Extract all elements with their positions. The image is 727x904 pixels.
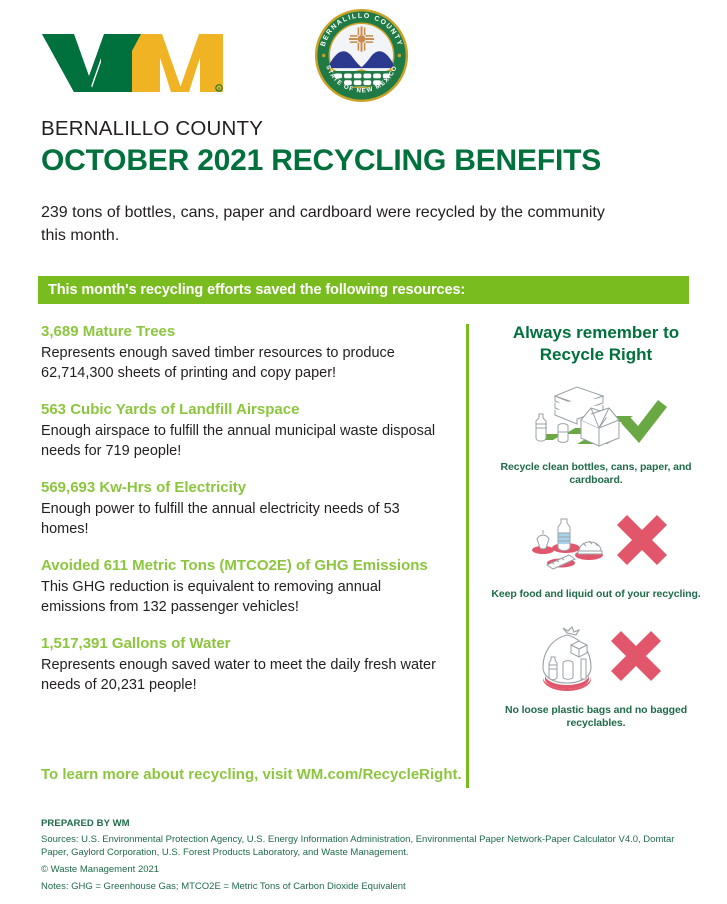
cross-mark-icon xyxy=(617,515,667,565)
recycle-accepted-items-icon xyxy=(521,380,671,454)
tip-caption: Keep food and liquid out of your recycli… xyxy=(485,588,707,601)
bernalillo-county-seal-icon: BERNALILLO COUNTY STATE OF NEW MEXICO xyxy=(313,7,410,104)
tip-caption: Recycle clean bottles, cans, paper, and … xyxy=(485,461,707,487)
benefit-item: 563 Cubic Yards of Landfill Airspace Eno… xyxy=(41,400,441,461)
benefit-headline: 563 Cubic Yards of Landfill Airspace xyxy=(41,400,441,420)
tip-illustration xyxy=(485,378,707,456)
column-divider xyxy=(466,324,469,788)
benefit-description: Represents enough saved water to meet th… xyxy=(41,656,441,695)
tip-illustration xyxy=(485,621,707,699)
benefit-headline: 1,517,391 Gallons of Water xyxy=(41,634,441,654)
wm-logo: R xyxy=(40,32,225,94)
footer: PREPARED BY WM Sources: U.S. Environment… xyxy=(41,818,681,893)
tip-item: Keep food and liquid out of your recycli… xyxy=(485,505,707,601)
benefit-item: 569,693 Kw-Hrs of Electricity Enough pow… xyxy=(41,478,441,539)
learn-more-text[interactable]: To learn more about recycling, visit WM.… xyxy=(41,766,462,783)
benefit-headline: 569,693 Kw-Hrs of Electricity xyxy=(41,478,441,498)
footer-sources: Sources: U.S. Environmental Protection A… xyxy=(41,833,681,859)
recycle-right-panel: Always remember to Recycle Right xyxy=(485,322,707,736)
tip-illustration xyxy=(485,505,707,583)
benefit-headline: Avoided 611 Metric Tons (MTCO2E) of GHG … xyxy=(41,556,441,576)
county-subtitle: BERNALILLO COUNTY xyxy=(41,117,263,141)
benefit-description: Represents enough saved timber resources… xyxy=(41,344,441,383)
page-title: OCTOBER 2021 RECYCLING BENEFITS xyxy=(41,144,601,178)
food-and-liquid-icon xyxy=(521,511,671,577)
benefit-item: 1,517,391 Gallons of Water Represents en… xyxy=(41,634,441,695)
footer-notes: Notes: GHG = Greenhouse Gas; MTCO2E = Me… xyxy=(41,880,681,893)
header-logo-row: R xyxy=(0,0,727,112)
benefit-description: This GHG reduction is equivalent to remo… xyxy=(41,578,441,617)
benefits-list: 3,689 Mature Trees Represents enough sav… xyxy=(41,322,441,695)
recycling-benefits-page: R xyxy=(0,0,727,904)
check-mark-icon xyxy=(621,400,667,443)
benefit-item: Avoided 611 Metric Tons (MTCO2E) of GHG … xyxy=(41,556,441,617)
resources-banner: This month's recycling efforts saved the… xyxy=(38,276,689,304)
benefit-description: Enough power to fulfill the annual elect… xyxy=(41,500,441,539)
tip-item: Recycle clean bottles, cans, paper, and … xyxy=(485,378,707,487)
footer-prepared-by: PREPARED BY WM xyxy=(41,818,681,829)
benefit-description: Enough airspace to fulfill the annual mu… xyxy=(41,422,441,461)
intro-paragraph: 239 tons of bottles, cans, paper and car… xyxy=(41,201,616,247)
resources-banner-text: This month's recycling efforts saved the… xyxy=(38,282,465,298)
benefit-headline: 3,689 Mature Trees xyxy=(41,322,441,342)
tip-item: No loose plastic bags and no bagged recy… xyxy=(485,621,707,730)
plastic-bag-icon xyxy=(521,625,671,695)
recycle-right-title: Always remember to Recycle Right xyxy=(485,322,707,366)
tip-caption: No loose plastic bags and no bagged recy… xyxy=(485,704,707,730)
footer-copyright: © Waste Management 2021 xyxy=(41,863,681,876)
benefit-item: 3,689 Mature Trees Represents enough sav… xyxy=(41,322,441,383)
cross-mark-icon xyxy=(611,631,661,681)
svg-text:R: R xyxy=(217,87,220,92)
